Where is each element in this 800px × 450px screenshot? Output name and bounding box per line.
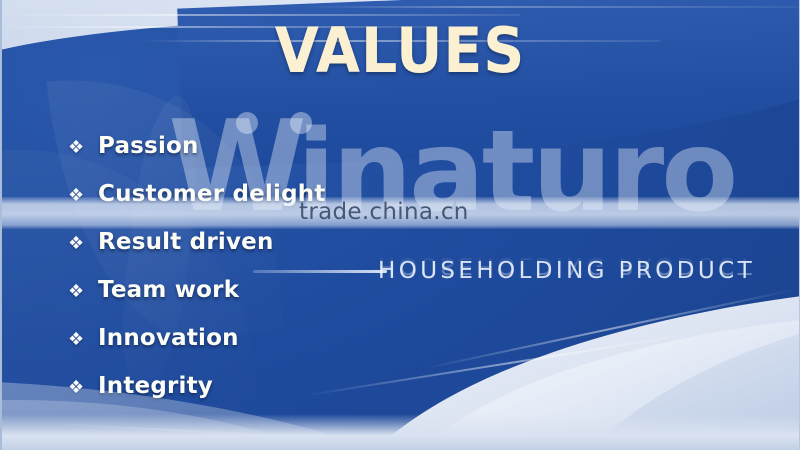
highlight-streak: [300, 6, 800, 8]
diamond-cluster-bullet-icon: ❖: [68, 283, 98, 301]
logo-dot-left-icon: [236, 112, 258, 134]
list-item[interactable]: ❖ Innovation: [68, 325, 368, 373]
brand-tagline: HOUSEHOLDING PRODUCT: [378, 258, 755, 284]
bottom-fade-overlay: [0, 414, 800, 450]
list-item-label: Result driven: [98, 229, 274, 255]
list-item-label: Team work: [98, 277, 239, 303]
logo-dot-right-icon: [290, 112, 312, 134]
list-item-label: Integrity: [98, 373, 213, 399]
presentation-slide: Winaturo VALUES ❖ Passion ❖ Customer del…: [0, 0, 800, 450]
values-list: ❖ Passion ❖ Customer delight ❖ Result dr…: [68, 133, 368, 421]
page-title: VALUES: [32, 14, 768, 87]
list-item[interactable]: ❖ Passion: [68, 133, 368, 181]
diamond-cluster-bullet-icon: ❖: [68, 379, 98, 397]
list-item-label: Innovation: [98, 325, 239, 351]
diamond-cluster-bullet-icon: ❖: [68, 139, 98, 157]
diamond-cluster-bullet-icon: ❖: [68, 331, 98, 349]
list-item-label: Passion: [98, 133, 199, 159]
diamond-cluster-bullet-icon: ❖: [68, 235, 98, 253]
tagline-divider: [253, 270, 387, 273]
watermark-url: trade.china.cn: [299, 199, 469, 225]
list-item[interactable]: ❖ Team work: [68, 277, 368, 325]
